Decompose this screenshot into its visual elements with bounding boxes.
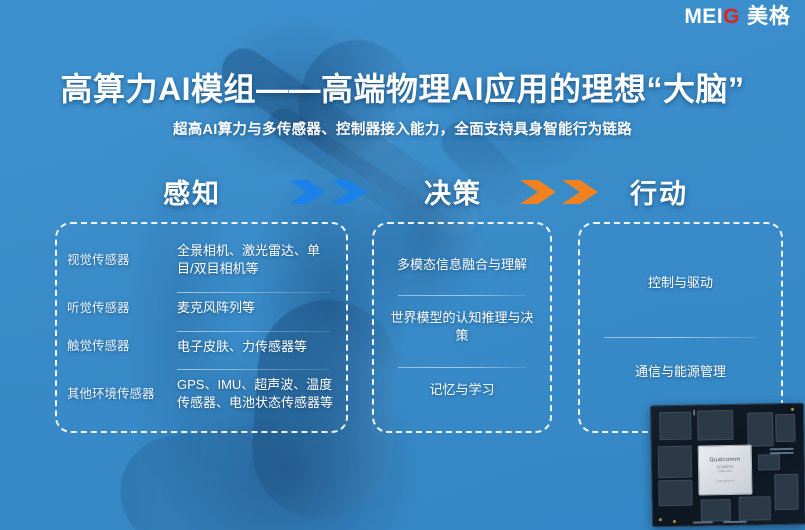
list-item: 世界模型的认知推理与决策 xyxy=(384,295,540,359)
stage-label-decision: 决策 xyxy=(424,172,482,211)
soc-rev-label: DSD-AA xyxy=(718,469,731,473)
panel-action: 控制与驱动 通信与能源管理 xyxy=(578,222,783,433)
arrow-group-decision-to-action xyxy=(518,178,600,206)
row-value: 电子皮肤、力传感器等 xyxy=(171,338,336,356)
row-value: 全景相机、激光雷达、单目/双目相机等 xyxy=(171,242,336,279)
page-subtitle: 超高AI算力与多传感器、控制器接入能力，全面支持具身智能行为链路 xyxy=(0,118,805,139)
brand-logo: MEIG 美格 xyxy=(684,6,791,27)
chevron-right-icon xyxy=(518,178,558,206)
row-key: 听觉传感器 xyxy=(67,300,171,317)
slide-root: MEIG 美格 高算力AI模组——高端物理AI应用的理想“大脑” 超高AI算力与… xyxy=(0,0,805,530)
row-value: GPS、IMU、超声波、温度传感器、电池状态传感器等 xyxy=(171,376,336,413)
list-item: 记忆与学习 xyxy=(384,367,540,413)
list-item: 多模态信息融合与理解 xyxy=(384,242,540,288)
list-item: 控制与驱动 xyxy=(590,248,771,318)
row-key: 视觉传感器 xyxy=(67,252,171,269)
ai-module-board-image: Qualcomm SC580TS DSD-AA JK97GWCH xyxy=(650,403,805,528)
chevron-right-icon xyxy=(287,178,327,206)
soc-brand-label: Qualcomm xyxy=(709,457,740,464)
flow-stage-row: 感知 决策 行动 xyxy=(0,172,805,212)
row-value: 麦克风阵列等 xyxy=(171,299,336,317)
table-row: 其他环境传感器 GPS、IMU、超声波、温度传感器、电池状态传感器等 xyxy=(67,369,336,420)
table-row: 视觉传感器 全景相机、激光雷达、单目/双目相机等 xyxy=(67,235,336,286)
soc-code-label: JK97GWCH xyxy=(716,479,735,483)
table-row: 听觉传感器 麦克风阵列等 xyxy=(67,292,336,324)
table-row: 触觉传感器 电子皮肤、力传感器等 xyxy=(67,331,336,363)
list-item: 通信与能源管理 xyxy=(590,337,771,407)
soc-chip: Qualcomm SC580TS DSD-AA JK97GWCH xyxy=(698,445,753,496)
chevron-right-icon xyxy=(329,178,369,206)
chevron-right-icon xyxy=(560,178,600,206)
stage-label-action: 行动 xyxy=(630,172,688,211)
brand-logo-latin: MEIG xyxy=(684,6,740,27)
arrow-group-perception-to-decision xyxy=(287,178,369,206)
panel-decision: 多模态信息融合与理解 世界模型的认知推理与决策 记忆与学习 xyxy=(372,222,552,433)
row-key: 其他环境传感器 xyxy=(67,386,171,403)
page-title: 高算力AI模组——高端物理AI应用的理想“大脑” xyxy=(0,64,805,110)
brand-logo-g-letter: G xyxy=(723,5,740,28)
brand-logo-chinese: 美格 xyxy=(747,6,791,27)
panel-perception: 视觉传感器 全景相机、激光雷达、单目/双目相机等 听觉传感器 麦克风阵列等 触觉… xyxy=(55,222,348,433)
stage-label-perception: 感知 xyxy=(163,172,221,211)
row-key: 触觉传感器 xyxy=(67,338,171,355)
